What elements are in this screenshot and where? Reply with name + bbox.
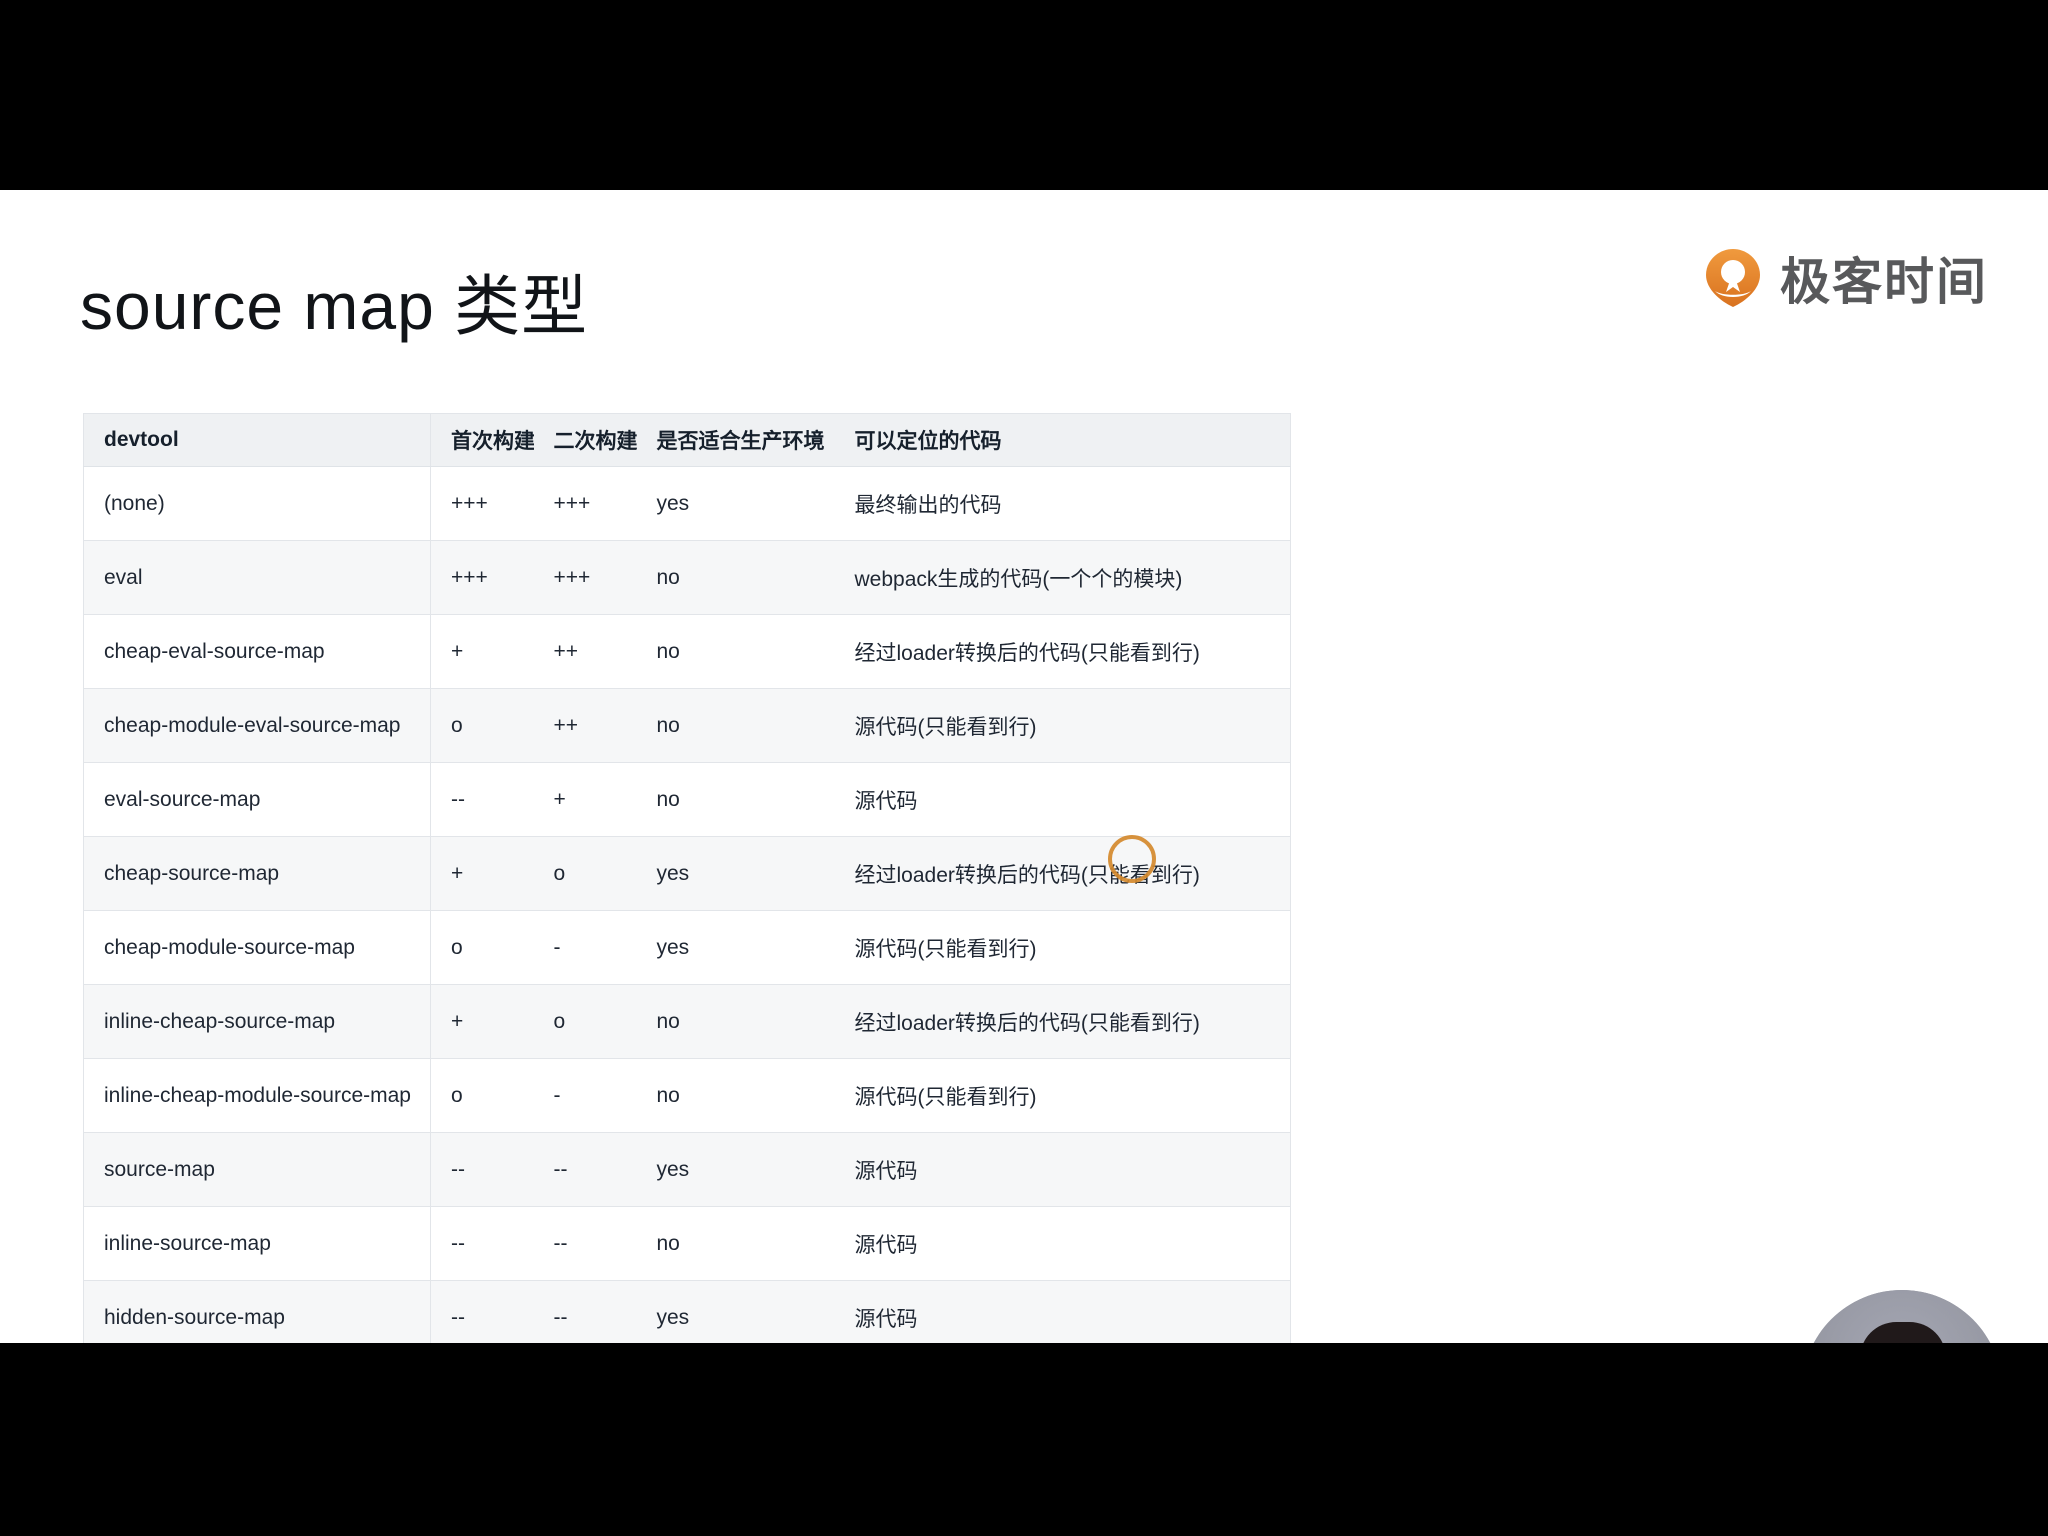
cell-first: -- xyxy=(431,1207,534,1281)
cell-devtool: inline-source-map xyxy=(84,1207,431,1281)
cell-devtool: inline-cheap-source-map xyxy=(84,985,431,1059)
cell-locate: 源代码 xyxy=(835,1281,1291,1344)
page-title: source map 类型 xyxy=(80,253,588,349)
cell-prod: yes xyxy=(637,911,835,985)
brand-logo: 极客时间 xyxy=(1702,242,1988,314)
cell-prod: no xyxy=(637,689,835,763)
cell-second: o xyxy=(534,837,637,911)
geektime-logo-icon xyxy=(1702,247,1764,309)
table-row: cheap-module-source-map o - yes 源代码(只能看到… xyxy=(84,911,1291,985)
screen: source map 类型 极客时间 xyxy=(0,0,2048,1536)
cell-first: o xyxy=(431,911,534,985)
cell-second: - xyxy=(534,1059,637,1133)
cell-second: -- xyxy=(534,1207,637,1281)
cell-first: + xyxy=(431,615,534,689)
cell-devtool: eval-source-map xyxy=(84,763,431,837)
cell-prod: yes xyxy=(637,837,835,911)
presenter-video-bubble[interactable] xyxy=(1802,1290,2002,1343)
table-row: (none) +++ +++ yes 最终输出的代码 xyxy=(84,467,1291,541)
table-body: (none) +++ +++ yes 最终输出的代码 eval +++ +++ … xyxy=(84,467,1291,1344)
letterbox-top-bar xyxy=(0,0,2048,190)
cell-devtool: inline-cheap-module-source-map xyxy=(84,1059,431,1133)
cell-first: -- xyxy=(431,1281,534,1344)
cell-locate: webpack生成的代码(一个个的模块) xyxy=(835,541,1291,615)
cell-locate: 源代码 xyxy=(835,763,1291,837)
table-row: eval-source-map -- + no 源代码 xyxy=(84,763,1291,837)
cell-locate: 经过loader转换后的代码(只能看到行) xyxy=(835,985,1291,1059)
cell-first: +++ xyxy=(431,467,534,541)
cell-prod: no xyxy=(637,615,835,689)
cell-second: -- xyxy=(534,1281,637,1344)
cell-first: + xyxy=(431,985,534,1059)
cell-prod: no xyxy=(637,763,835,837)
cell-devtool: cheap-source-map xyxy=(84,837,431,911)
cell-second: - xyxy=(534,911,637,985)
cell-first: +++ xyxy=(431,541,534,615)
table-header-row: devtool 首次构建 二次构建 是否适合生产环境 可以定位的代码 xyxy=(84,414,1291,467)
cell-devtool: eval xyxy=(84,541,431,615)
cell-devtool: cheap-module-source-map xyxy=(84,911,431,985)
cell-first: o xyxy=(431,1059,534,1133)
cell-first: o xyxy=(431,689,534,763)
brand-name: 极客时间 xyxy=(1780,242,1988,314)
table-row: inline-cheap-module-source-map o - no 源代… xyxy=(84,1059,1291,1133)
cell-second: ++ xyxy=(534,689,637,763)
cell-second: +++ xyxy=(534,467,637,541)
cell-first: + xyxy=(431,837,534,911)
cell-prod: yes xyxy=(637,1281,835,1344)
column-header-devtool: devtool xyxy=(84,414,431,467)
cell-prod: no xyxy=(637,985,835,1059)
cell-locate: 源代码(只能看到行) xyxy=(835,1059,1291,1133)
slide-canvas: source map 类型 极客时间 xyxy=(0,190,2048,1343)
table-row: eval +++ +++ no webpack生成的代码(一个个的模块) xyxy=(84,541,1291,615)
cell-prod: yes xyxy=(637,467,835,541)
cell-locate: 最终输出的代码 xyxy=(835,467,1291,541)
cell-second: o xyxy=(534,985,637,1059)
cell-prod: yes xyxy=(637,1133,835,1207)
column-header-production: 是否适合生产环境 xyxy=(637,414,835,467)
cell-first: -- xyxy=(431,763,534,837)
cell-second: + xyxy=(534,763,637,837)
cell-prod: no xyxy=(637,541,835,615)
cell-locate: 源代码 xyxy=(835,1207,1291,1281)
table-row: hidden-source-map -- -- yes 源代码 xyxy=(84,1281,1291,1344)
letterbox-bottom-bar xyxy=(0,1343,2048,1536)
table-row: inline-source-map -- -- no 源代码 xyxy=(84,1207,1291,1281)
devtool-table-wrapper: devtool 首次构建 二次构建 是否适合生产环境 可以定位的代码 (none… xyxy=(83,413,1290,1343)
table-row: cheap-module-eval-source-map o ++ no 源代码… xyxy=(84,689,1291,763)
cell-second: +++ xyxy=(534,541,637,615)
cell-locate: 源代码 xyxy=(835,1133,1291,1207)
cell-prod: no xyxy=(637,1059,835,1133)
cell-prod: no xyxy=(637,1207,835,1281)
table-row: cheap-source-map + o yes 经过loader转换后的代码(… xyxy=(84,837,1291,911)
devtool-comparison-table: devtool 首次构建 二次构建 是否适合生产环境 可以定位的代码 (none… xyxy=(83,413,1291,1343)
cell-devtool: cheap-eval-source-map xyxy=(84,615,431,689)
cell-devtool: source-map xyxy=(84,1133,431,1207)
cell-first: -- xyxy=(431,1133,534,1207)
cell-second: ++ xyxy=(534,615,637,689)
cell-devtool: (none) xyxy=(84,467,431,541)
cell-devtool: cheap-module-eval-source-map xyxy=(84,689,431,763)
column-header-first-build: 首次构建 xyxy=(431,414,534,467)
cell-locate: 源代码(只能看到行) xyxy=(835,911,1291,985)
cell-second: -- xyxy=(534,1133,637,1207)
table-row: cheap-eval-source-map + ++ no 经过loader转换… xyxy=(84,615,1291,689)
table-row: inline-cheap-source-map + o no 经过loader转… xyxy=(84,985,1291,1059)
column-header-second-build: 二次构建 xyxy=(534,414,637,467)
cell-locate: 源代码(只能看到行) xyxy=(835,689,1291,763)
cell-devtool: hidden-source-map xyxy=(84,1281,431,1344)
cell-locate: 经过loader转换后的代码(只能看到行) xyxy=(835,837,1291,911)
column-header-locatable-code: 可以定位的代码 xyxy=(835,414,1291,467)
cell-locate: 经过loader转换后的代码(只能看到行) xyxy=(835,615,1291,689)
table-row: source-map -- -- yes 源代码 xyxy=(84,1133,1291,1207)
